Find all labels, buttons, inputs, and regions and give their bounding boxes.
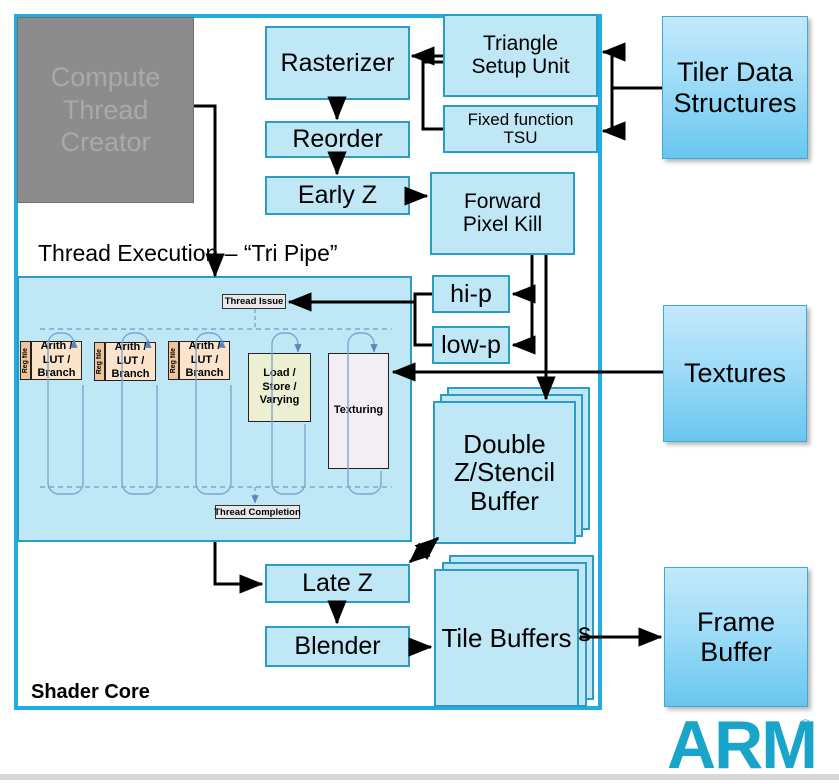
late-z-block[interactable]: Late Z [265, 564, 410, 603]
arith-lut-branch-unit-3[interactable]: Arith / LUT / Branch [179, 341, 230, 380]
arith-lut-branch-unit-2[interactable]: Arith / LUT / Branch [105, 342, 156, 381]
arith-lut-branch-label-3: Arith / LUT / Branch [180, 340, 229, 381]
hi-p-block[interactable]: hi-p [432, 275, 510, 313]
tile-buffers-label: Tile Buffers [441, 624, 571, 652]
texturing-unit[interactable]: Texturing [328, 353, 389, 469]
low-p-block[interactable]: low-p [432, 326, 510, 364]
reg-file-label: Reg file [22, 348, 29, 373]
fixed-function-tsu-label: Fixed function TSU [445, 111, 596, 148]
early-z-block[interactable]: Early Z [265, 176, 410, 215]
rasterizer-block[interactable]: Rasterizer [265, 26, 410, 100]
reg-file-3: Reg file [168, 341, 179, 380]
late-z-label: Late Z [302, 570, 373, 597]
arith-lut-branch-label-1: Arith / LUT / Branch [32, 340, 81, 381]
diagram-canvas: Compute Thread Creator Rasterizer Reorde… [0, 0, 839, 780]
arith-lut-branch-unit-1[interactable]: Arith / LUT / Branch [31, 341, 82, 380]
load-store-varying-unit[interactable]: Load / Store / Varying [248, 353, 311, 422]
arm-trademark-icon: ® [800, 717, 811, 734]
textures-block[interactable]: Textures [663, 305, 807, 442]
texturing-label: Texturing [334, 404, 383, 418]
reg-file-2: Reg file [94, 342, 105, 381]
early-z-label: Early Z [298, 182, 377, 209]
thread-issue-label: Thread Issue [225, 296, 284, 307]
blender-label: Blender [294, 633, 380, 660]
forward-pixel-kill-label: Forward Pixel Kill [432, 191, 573, 236]
triangle-setup-unit-block[interactable]: Triangle Setup Unit [443, 14, 598, 97]
rasterizer-label: Rasterizer [281, 50, 395, 77]
hi-p-label: hi-p [450, 281, 492, 308]
double-z-stencil-buffer-label: Double Z/Stencil Buffer [435, 430, 574, 514]
frame-buffer-block[interactable]: Frame Buffer [664, 567, 808, 707]
thread-completion-label: Thread Completion [214, 507, 301, 518]
low-p-label: low-p [441, 332, 501, 359]
arm-logo: ARM [667, 706, 816, 784]
fixed-function-tsu-block[interactable]: Fixed function TSU [443, 105, 598, 153]
reorder-label: Reorder [292, 126, 382, 153]
double-z-stencil-buffer-block[interactable]: Double Z/Stencil Buffer [433, 401, 576, 544]
blender-block[interactable]: Blender [265, 626, 410, 667]
forward-pixel-kill-block[interactable]: Forward Pixel Kill [430, 172, 575, 255]
tiler-data-structures-block[interactable]: Tiler Data Structures [662, 16, 808, 159]
tiler-data-structures-label: Tiler Data Structures [663, 57, 807, 117]
reorder-block[interactable]: Reorder [265, 121, 410, 158]
reg-file-label: Reg file [170, 348, 177, 373]
reg-file-1: Reg file [20, 341, 31, 380]
arith-lut-branch-label-2: Arith / LUT / Branch [106, 341, 155, 382]
tile-buffers-overflow-glyph: s [578, 617, 591, 648]
shader-core-label: Shader Core [31, 681, 150, 704]
reg-file-label: Reg file [96, 349, 103, 374]
triangle-setup-unit-label: Triangle Setup Unit [445, 33, 596, 78]
bottom-bar [0, 774, 839, 780]
load-store-varying-label: Load / Store / Varying [249, 367, 310, 408]
tripipe-title: Thread Execution – “Tri Pipe” [38, 240, 338, 267]
thread-completion-tag[interactable]: Thread Completion [215, 505, 300, 519]
frame-buffer-label: Frame Buffer [665, 607, 807, 667]
textures-label: Textures [684, 358, 786, 388]
tile-buffers-block[interactable]: Tile Buffers [434, 569, 579, 707]
compute-thread-creator-label: Compute Thread Creator [18, 61, 193, 158]
compute-thread-creator-block[interactable]: Compute Thread Creator [17, 17, 194, 203]
thread-issue-tag[interactable]: Thread Issue [222, 294, 286, 309]
